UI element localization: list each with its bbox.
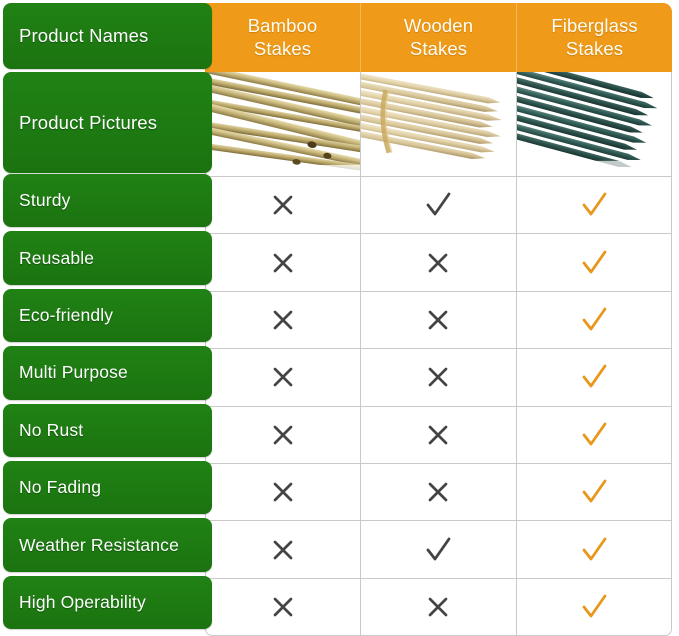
row-label-product-pictures: Product Pictures [3,72,212,173]
feature-label: Weather Resistance [3,518,212,571]
cross-icon [266,188,300,222]
cross-icon [421,590,455,624]
cross-icon [421,475,455,509]
cross-icon [421,246,455,280]
cross-icon [421,303,455,337]
feature-label-text: Reusable [19,248,94,269]
row-label-header: Product Names [3,3,212,69]
feature-cell [517,177,672,234]
cross-icon [266,246,300,280]
check-icon [577,590,611,624]
column-header-line2: Stakes [566,38,623,59]
feature-cell [517,349,672,406]
column-header-line2: Stakes [254,38,311,59]
feature-label: No Fading [3,461,212,514]
cross-icon [421,360,455,394]
feature-cell [517,234,672,291]
feature-label: Eco-friendly [3,289,212,342]
feature-cell [361,349,516,406]
feature-label-text: Weather Resistance [19,535,179,556]
row-label-product-pictures-text: Product Pictures [19,112,157,134]
check-icon [577,475,611,509]
feature-cell [361,579,516,636]
feature-cell [517,521,672,578]
feature-label: Reusable [3,231,212,284]
cross-icon [266,475,300,509]
feature-cell [205,579,361,636]
column-header-line1: Fiberglass [551,15,637,36]
feature-label-text: Sturdy [19,190,70,211]
product-picture-cell-bamboo [205,72,361,177]
column-header-wooden: Wooden Stakes [361,3,517,72]
feature-cell [205,292,361,349]
fiberglass-stakes-photo [517,72,671,176]
feature-cell [361,234,516,291]
bamboo-stakes-photo [206,72,360,176]
feature-cell [517,407,672,464]
comparison-grid: Bamboo Stakes Wooden Stakes Fiberglass S… [205,3,672,626]
cross-icon [266,303,300,337]
cross-icon [266,590,300,624]
table-header-row: Bamboo Stakes Wooden Stakes Fiberglass S… [205,3,672,72]
product-pictures-row [205,72,672,177]
feature-cell [517,292,672,349]
cross-icon [266,418,300,452]
table-row [205,407,672,464]
table-row [205,464,672,521]
feature-cell [205,349,361,406]
feature-label-text: High Operability [19,592,146,613]
product-picture-cell-wooden [361,72,516,177]
check-icon [577,418,611,452]
cross-icon [421,418,455,452]
feature-cell [205,177,361,234]
feature-label-text: Multi Purpose [19,362,128,383]
column-header-fiberglass: Fiberglass Stakes [517,3,672,72]
feature-label: High Operability [3,576,212,629]
feature-cell [361,407,516,464]
feature-cell [361,292,516,349]
feature-label-column: Product Names Product Pictures SturdyReu… [3,3,212,626]
row-label-header-text: Product Names [19,25,148,47]
feature-label-text: No Fading [19,477,101,498]
table-row [205,234,672,291]
feature-cell [205,234,361,291]
product-comparison-table: Bamboo Stakes Wooden Stakes Fiberglass S… [0,0,679,633]
feature-cell [205,521,361,578]
feature-label: No Rust [3,404,212,457]
check-icon [421,188,455,222]
table-row [205,579,672,636]
cross-icon [266,360,300,394]
feature-cell [517,579,672,636]
feature-label-text: Eco-friendly [19,305,113,326]
feature-label-text: No Rust [19,420,83,441]
column-header-line1: Wooden [404,15,473,36]
table-row [205,177,672,234]
feature-cell [517,464,672,521]
check-icon [421,533,455,567]
feature-cell [361,521,516,578]
column-header-line2: Stakes [410,38,467,59]
column-header-line1: Bamboo [248,15,318,36]
feature-cell [205,464,361,521]
table-row [205,292,672,349]
check-icon [577,360,611,394]
table-row [205,521,672,578]
column-header-bamboo: Bamboo Stakes [205,3,361,72]
cross-icon [266,533,300,567]
check-icon [577,303,611,337]
feature-label: Sturdy [3,174,212,227]
wooden-stakes-photo [361,72,515,176]
check-icon [577,188,611,222]
feature-cell [361,464,516,521]
check-icon [577,533,611,567]
feature-label: Multi Purpose [3,346,212,399]
product-picture-cell-fiberglass [517,72,672,177]
check-icon [577,246,611,280]
feature-cell [205,407,361,464]
feature-cell [361,177,516,234]
table-row [205,349,672,406]
